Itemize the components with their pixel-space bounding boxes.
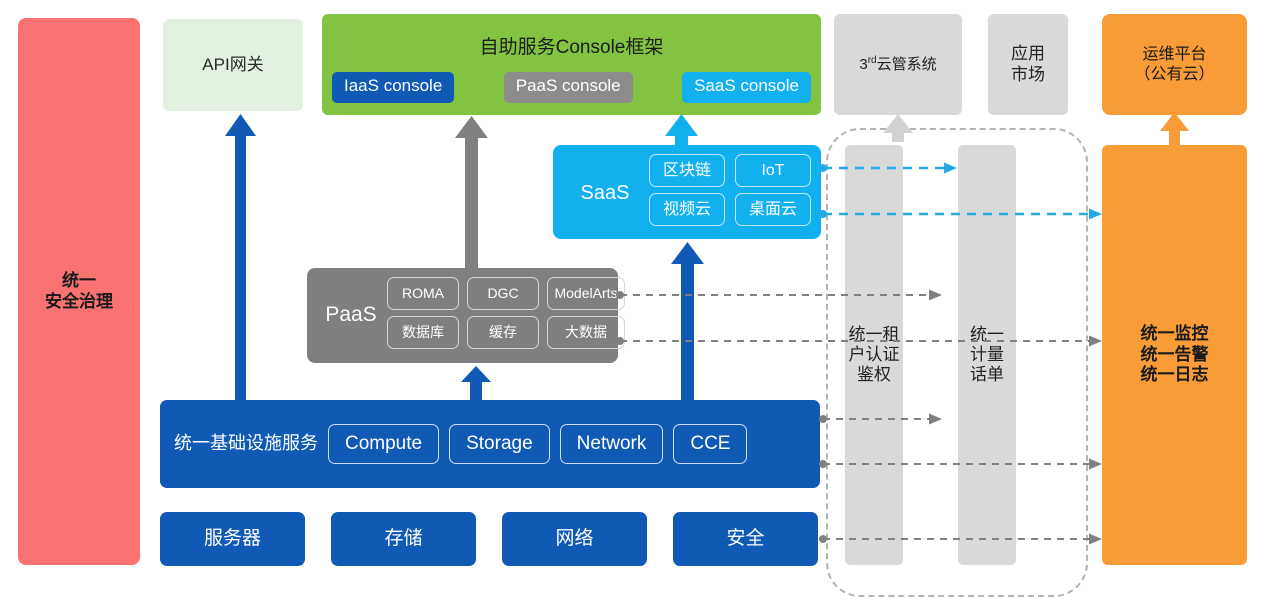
panel-third-party-cloud-mgmt[interactable]: 3rd云管系统 — [834, 14, 962, 115]
saas-item-iot[interactable]: IoT — [735, 154, 811, 187]
paas-item-roma[interactable]: ROMA — [387, 277, 459, 310]
paas-label: PaaS — [315, 302, 387, 328]
console-chip-row: IaaS console PaaS console SaaS console — [332, 72, 811, 103]
resource-box-storage[interactable]: 存储 — [331, 512, 476, 566]
third-party-suffix: 云管系统 — [877, 56, 937, 73]
saas-item-grid: 区块链 IoT 视频云 桌面云 — [649, 154, 811, 226]
paas-item-grid: ROMA DGC ModelArts 数据库 缓存 大数据 — [387, 277, 625, 349]
paas-item-database[interactable]: 数据库 — [387, 316, 459, 349]
chip-saas-console[interactable]: SaaS console — [682, 72, 811, 103]
console-title: 自助服务Console框架 — [322, 36, 821, 59]
resource-label-storage: 存储 — [384, 527, 422, 550]
saas-item-video-cloud[interactable]: 视频云 — [649, 193, 725, 226]
arrow-ops-body-to-ops-platform — [1160, 112, 1189, 146]
saas-item-desktop-cloud[interactable]: 桌面云 — [735, 193, 811, 226]
billing-line-2: 计量 — [970, 345, 1004, 365]
column-unified-billing[interactable]: 统一 计量 话单 — [958, 145, 1016, 565]
ops-platform-line-1: 运维平台 — [1134, 45, 1214, 65]
arrow-paas-to-console — [455, 116, 488, 270]
panel-unified-security[interactable]: 统一 安全治理 — [18, 18, 140, 565]
saas-label: SaaS — [565, 181, 645, 205]
auth-line-1: 统一租 — [849, 325, 900, 345]
third-party-prefix: 3 — [859, 56, 867, 73]
infra-item-network[interactable]: Network — [560, 424, 664, 464]
resource-label-server: 服务器 — [204, 527, 261, 550]
arrow-saas-to-console — [665, 114, 698, 148]
resource-label-network: 网络 — [555, 527, 593, 550]
panel-self-service-console[interactable]: 自助服务Console框架 IaaS console PaaS console … — [322, 14, 821, 115]
paas-item-cache[interactable]: 缓存 — [467, 316, 539, 349]
ops-body-line-3: 统一日志 — [1141, 365, 1209, 386]
infra-item-storage[interactable]: Storage — [449, 424, 550, 464]
panel-ops-platform[interactable]: 运维平台 （公有云） — [1102, 14, 1247, 115]
panel-app-market[interactable]: 应用 市场 — [988, 14, 1068, 115]
arrow-infra-to-paas — [461, 366, 491, 402]
infra-label: 统一基础设施服务 — [174, 433, 318, 455]
app-market-line-2: 市场 — [1011, 65, 1045, 86]
infra-item-cce[interactable]: CCE — [673, 424, 747, 464]
auth-line-3: 鉴权 — [849, 365, 900, 385]
saas-item-blockchain[interactable]: 区块链 — [649, 154, 725, 187]
paas-item-dgc[interactable]: DGC — [467, 277, 539, 310]
panel-unified-infrastructure[interactable]: 统一基础设施服务 Compute Storage Network CCE — [160, 400, 820, 488]
ops-body-line-1: 统一监控 — [1141, 324, 1209, 345]
infra-row: 统一基础设施服务 Compute Storage Network CCE — [174, 424, 757, 464]
billing-line-3: 话单 — [970, 365, 1004, 385]
ops-body-line-2: 统一告警 — [1141, 345, 1209, 366]
paas-item-bigdata[interactable]: 大数据 — [547, 316, 625, 349]
chip-iaas-console[interactable]: IaaS console — [332, 72, 454, 103]
auth-line-2: 户认证 — [849, 345, 900, 365]
column-unified-tenant-auth[interactable]: 统一租 户认证 鉴权 — [845, 145, 903, 565]
panel-api-gateway[interactable]: API网关 — [163, 19, 303, 111]
arrow-infra-to-api-gateway — [225, 114, 256, 402]
panel-saas[interactable]: SaaS 区块链 IoT 视频云 桌面云 — [553, 145, 821, 239]
paas-item-modelarts[interactable]: ModelArts — [547, 277, 625, 310]
architecture-diagram: 统一 安全治理 API网关 自助服务Console框架 IaaS console… — [0, 0, 1265, 605]
resource-box-network[interactable]: 网络 — [502, 512, 647, 566]
third-party-superscript: rd — [868, 55, 877, 66]
security-line-1: 统一 — [45, 271, 113, 292]
billing-line-1: 统一 — [970, 325, 1004, 345]
security-line-2: 安全治理 — [45, 292, 113, 313]
resource-box-security[interactable]: 安全 — [673, 512, 818, 566]
arrow-infra-to-saas — [671, 242, 704, 402]
panel-ops-capabilities[interactable]: 统一监控 统一告警 统一日志 — [1102, 145, 1247, 565]
ops-platform-line-2: （公有云） — [1134, 65, 1214, 85]
api-gateway-label: API网关 — [202, 55, 263, 76]
resource-box-server[interactable]: 服务器 — [160, 512, 305, 566]
resource-label-security: 安全 — [726, 527, 764, 550]
infra-item-compute[interactable]: Compute — [328, 424, 439, 464]
panel-paas[interactable]: PaaS ROMA DGC ModelArts 数据库 缓存 大数据 — [307, 268, 618, 363]
app-market-line-1: 应用 — [1011, 44, 1045, 65]
chip-paas-console[interactable]: PaaS console — [504, 72, 633, 103]
